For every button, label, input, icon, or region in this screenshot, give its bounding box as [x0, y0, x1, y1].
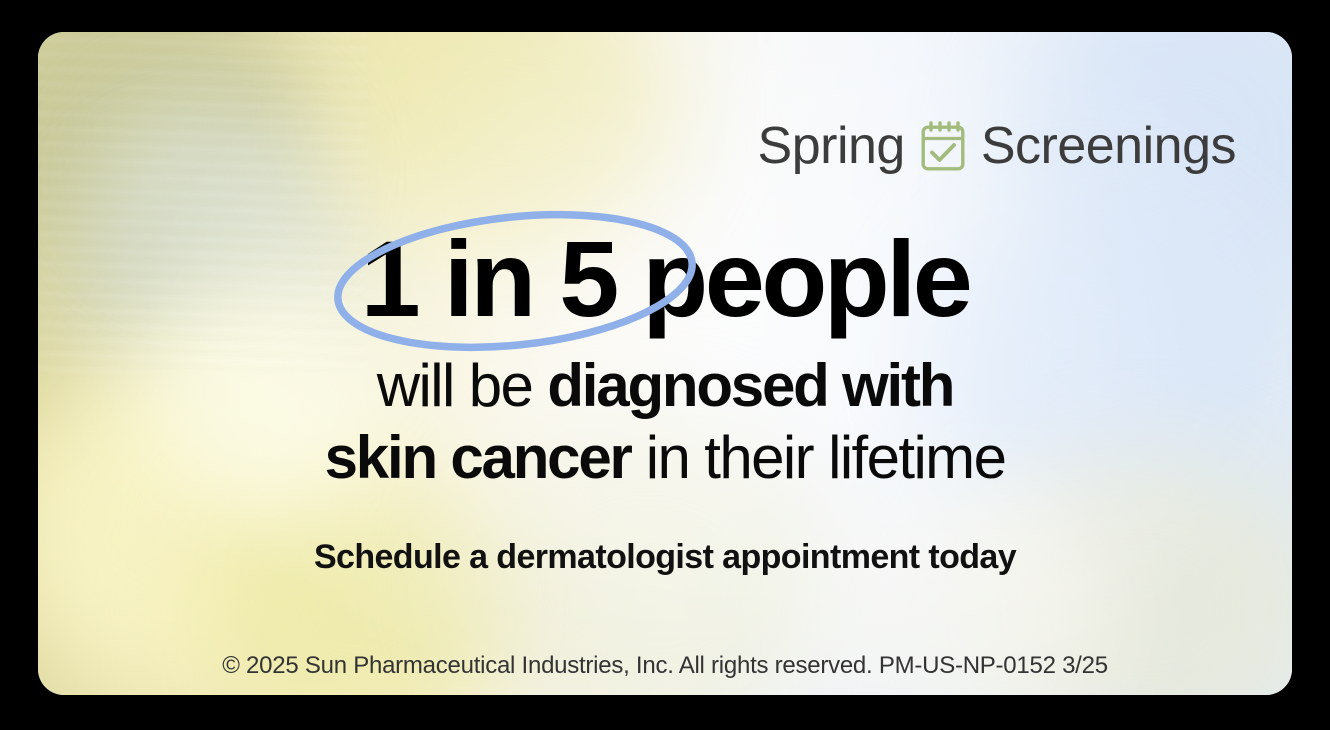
headline-hero-line: 1 in 5 people [361, 222, 970, 336]
header-word-before: Spring [758, 120, 905, 172]
headline-stat-wrap: 1 in 5 [361, 222, 616, 336]
calendar-check-icon [919, 121, 967, 171]
headline-line-3: skin cancer in their lifetime [38, 422, 1292, 494]
banner-content: Spring Screenings [38, 32, 1292, 695]
headline-hero-tail: people [616, 218, 970, 339]
banner-header: Spring Screenings [758, 120, 1236, 172]
headline-line2-light: will be [377, 352, 548, 419]
promo-banner-card: Spring Screenings [38, 32, 1292, 695]
headline-line2-bold: diagnosed with [547, 352, 953, 419]
headline-line3-bold: skin cancer [325, 424, 631, 491]
cta-text: Schedule a dermatologist appointment tod… [38, 538, 1292, 577]
headline-line3-light: in their lifetime [631, 424, 1006, 491]
copyright-text: © 2025 Sun Pharmaceutical Industries, In… [38, 652, 1292, 680]
headline-line-2: will be diagnosed with [38, 350, 1292, 422]
headline-stat: 1 in 5 [361, 218, 616, 339]
header-word-after: Screenings [981, 120, 1236, 172]
headline-block: 1 in 5 people will be diagnosed with ski… [38, 222, 1292, 577]
page-root: Spring Screenings [0, 0, 1330, 730]
